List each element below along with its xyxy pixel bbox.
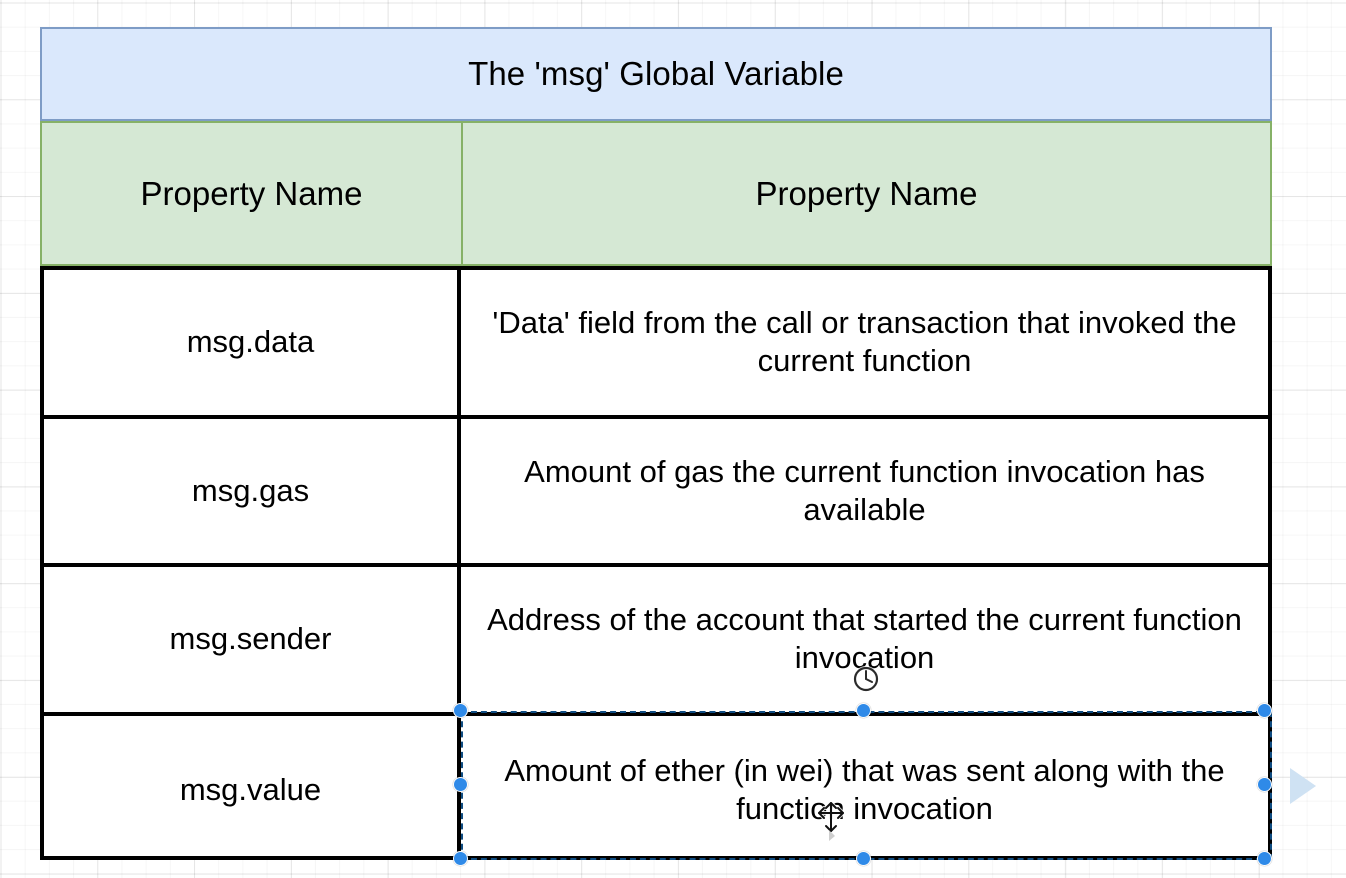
table-row[interactable]: msg.value Amount of ether (in wei) that … bbox=[44, 716, 1268, 865]
table-row[interactable]: msg.sender Address of the account that s… bbox=[44, 567, 1268, 716]
cell-property-name[interactable]: msg.sender bbox=[44, 567, 461, 712]
cell-property-description[interactable]: Amount of gas the current function invoc… bbox=[461, 419, 1268, 564]
table-header-row[interactable]: Property Name Property Name bbox=[40, 121, 1272, 266]
table-title-band[interactable]: The 'msg' Global Variable bbox=[40, 27, 1272, 121]
msg-global-variable-table[interactable]: The 'msg' Global Variable Property Name … bbox=[40, 27, 1272, 860]
table-body: msg.data 'Data' field from the call or t… bbox=[40, 266, 1272, 860]
cell-property-name[interactable]: msg.gas bbox=[44, 419, 461, 564]
cell-property-description-selected[interactable]: Amount of ether (in wei) that was sent a… bbox=[461, 716, 1268, 865]
page-title: The 'msg' Global Variable bbox=[468, 55, 844, 93]
cell-property-description[interactable]: 'Data' field from the call or transactio… bbox=[461, 270, 1268, 415]
header-cell-property-name-2: Property Name bbox=[463, 123, 1270, 264]
cell-property-name[interactable]: msg.value bbox=[44, 716, 461, 865]
header-cell-property-name-1: Property Name bbox=[42, 123, 463, 264]
triangle-right-icon[interactable] bbox=[1289, 767, 1317, 805]
cell-property-description[interactable]: Address of the account that started the … bbox=[461, 567, 1268, 712]
cell-property-name[interactable]: msg.data bbox=[44, 270, 461, 415]
table-row[interactable]: msg.data 'Data' field from the call or t… bbox=[44, 270, 1268, 419]
table-row[interactable]: msg.gas Amount of gas the current functi… bbox=[44, 419, 1268, 568]
